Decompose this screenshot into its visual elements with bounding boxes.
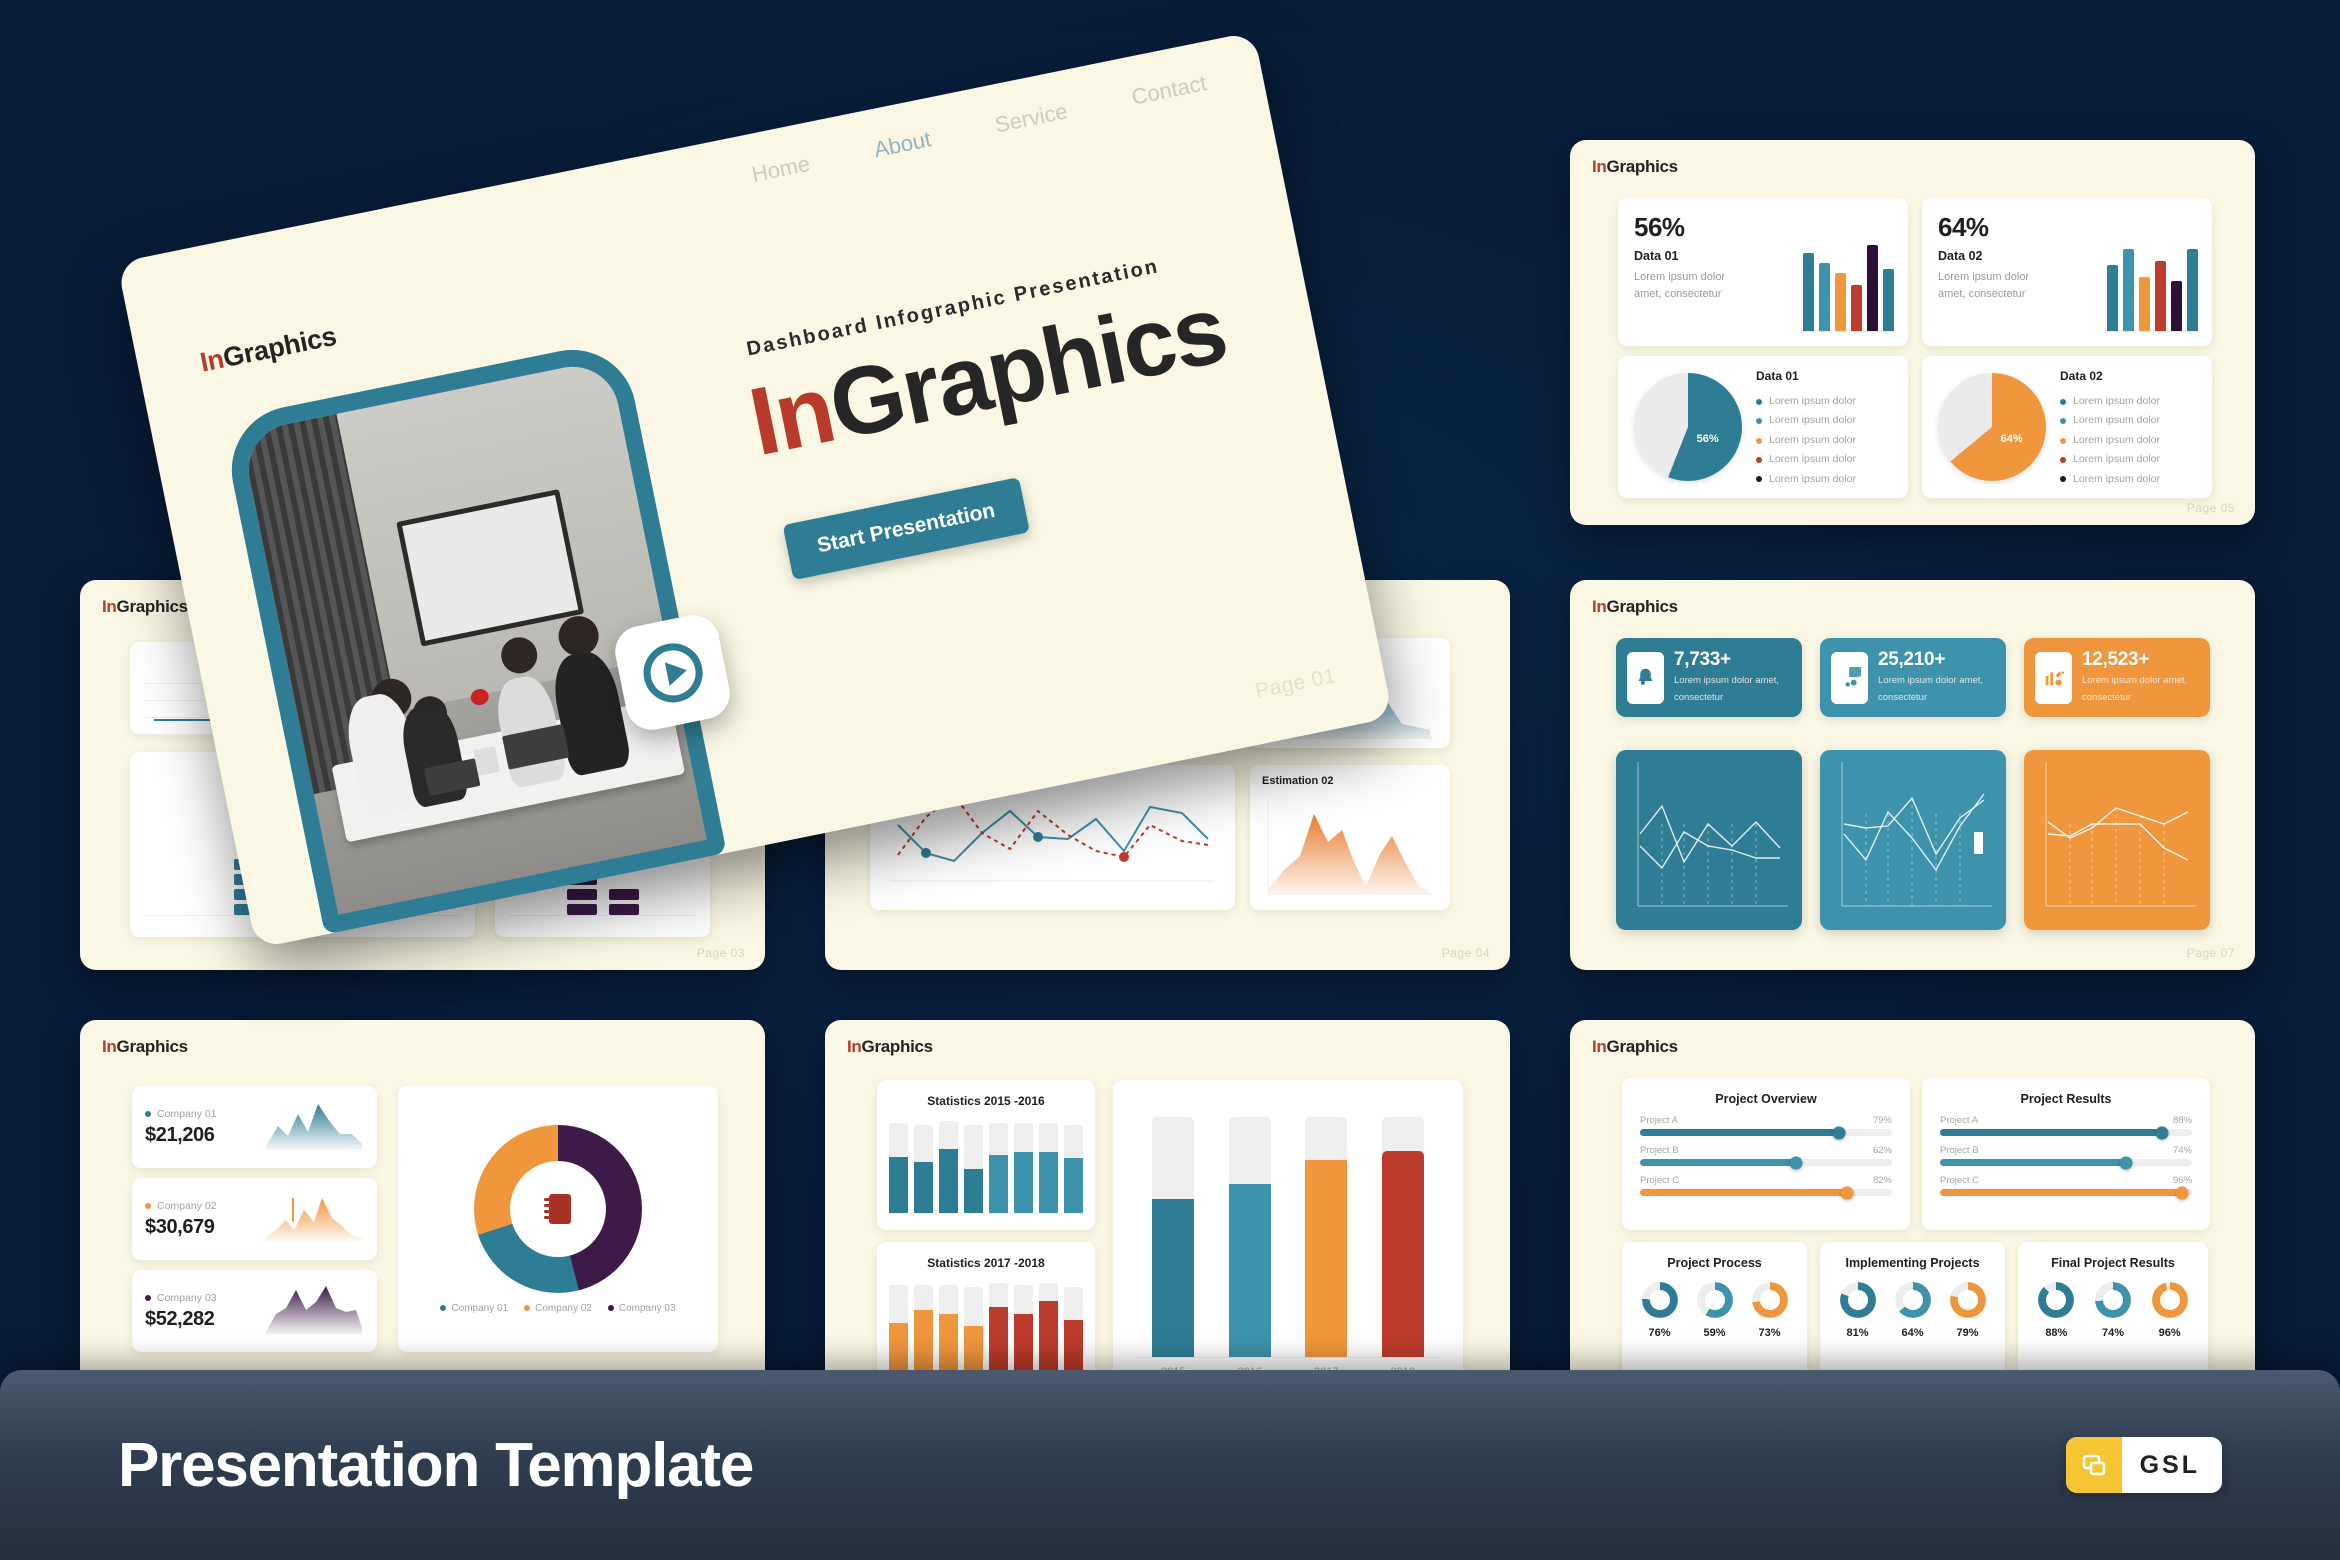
logo-graphics: Graphics bbox=[117, 1037, 188, 1056]
start-presentation-button[interactable]: Start Presentation bbox=[783, 477, 1030, 580]
company-card-2[interactable]: Company 02 $30,679 bbox=[132, 1178, 377, 1260]
banner-title: Presentation Template bbox=[118, 1430, 753, 1501]
slide-logo: InGraphics bbox=[847, 1037, 933, 1057]
page-number: Page 04 bbox=[1442, 946, 1490, 960]
slider-label: Project B bbox=[1940, 1145, 1979, 1156]
donut-item: 96% bbox=[2152, 1282, 2188, 1339]
company-sparkline bbox=[264, 1192, 364, 1246]
project-results-card[interactable]: Project Results Project A88% Project B74… bbox=[1922, 1078, 2210, 1230]
logo-graphics: Graphics bbox=[862, 1037, 933, 1056]
play-icon bbox=[636, 636, 709, 709]
nav-item-home[interactable]: Home bbox=[750, 151, 813, 188]
donut-group: 88% 74% 96% bbox=[2028, 1282, 2198, 1339]
legend-row: Lorem ipsum dolor bbox=[2060, 411, 2160, 430]
donut-item: 88% bbox=[2038, 1282, 2074, 1339]
donut-group: 76% 59% 73% bbox=[1632, 1282, 1797, 1339]
kpi-text: Lorem ipsum dolor amet, consectetur bbox=[1878, 673, 1995, 706]
donut-item: 64% bbox=[1895, 1282, 1931, 1339]
line-chart-svg bbox=[2024, 750, 2210, 930]
donut-legend: Company 01 Company 02 Company 03 bbox=[412, 1303, 704, 1314]
slides-icon bbox=[2066, 1437, 2122, 1493]
hero-logo: InGraphics bbox=[198, 321, 339, 379]
stats-big-chart-card[interactable]: 2015 2016 2017 2018 bbox=[1113, 1080, 1463, 1392]
page-number: Page 03 bbox=[697, 946, 745, 960]
stats-bars-b bbox=[889, 1280, 1083, 1376]
slide-logo: InGraphics bbox=[1592, 1037, 1678, 1057]
pie-value: 64% bbox=[2001, 433, 2023, 445]
estimation-02-title: Estimation 02 bbox=[1262, 775, 1438, 787]
legend-row: Company 01 bbox=[440, 1303, 508, 1314]
slider-row: Project C96% bbox=[1940, 1175, 2192, 1196]
logo-graphics: Graphics bbox=[1607, 597, 1678, 616]
slider-label: Project C bbox=[1640, 1175, 1679, 1186]
line-chart-svg bbox=[1616, 750, 1802, 930]
slider-label: Project A bbox=[1940, 1115, 1978, 1126]
project-results-title: Project Results bbox=[1940, 1092, 2192, 1106]
slide-kpi[interactable]: InGraphics 7,733+ Lorem ipsum dolor amet… bbox=[1570, 580, 2255, 970]
stats-title-b: Statistics 2017 -2018 bbox=[889, 1256, 1083, 1270]
bell-icon bbox=[1627, 652, 1664, 704]
company-donut-card[interactable]: Company 01 Company 02 Company 03 bbox=[398, 1086, 718, 1352]
project-process-card[interactable]: Project Process 76% 59% 73% bbox=[1622, 1242, 1807, 1390]
kpi-value: 12,523+ bbox=[2082, 649, 2199, 671]
kpi-card-3[interactable]: 12,523+ Lorem ipsum dolor amet, consecte… bbox=[2024, 638, 2210, 717]
donut-item: 81% bbox=[1840, 1282, 1876, 1339]
kpi-value: 7,733+ bbox=[1674, 649, 1791, 671]
page-background: InGraphics Target Page 03 InGraphics bbox=[0, 0, 2340, 1560]
slider-label: Project B bbox=[1640, 1145, 1679, 1156]
slider-row: Project A88% bbox=[1940, 1115, 2192, 1136]
page-number: Page 05 bbox=[2187, 501, 2235, 515]
data-text: Lorem ipsum dolor amet, consectetur bbox=[1634, 269, 1744, 302]
company-name: Company 03 bbox=[145, 1292, 217, 1304]
slider-label: Project C bbox=[1940, 1175, 1979, 1186]
logo-in: In bbox=[1592, 597, 1607, 616]
donut-item: 74% bbox=[2095, 1282, 2131, 1339]
slider-value: 79% bbox=[1873, 1115, 1892, 1126]
slider-track[interactable] bbox=[1940, 1189, 2192, 1196]
stats-title-a: Statistics 2015 -2016 bbox=[889, 1094, 1083, 1108]
page-number: Page 01 bbox=[1253, 664, 1338, 704]
kpi-graph-1[interactable] bbox=[1616, 750, 1802, 930]
bottom-banner: Presentation Template GSL bbox=[0, 1370, 2340, 1560]
logo-in: In bbox=[847, 1037, 862, 1056]
legend-row: Lorem ipsum dolor bbox=[2060, 450, 2160, 469]
company-card-1[interactable]: Company 01 $21,206 bbox=[132, 1086, 377, 1168]
slide-data[interactable]: InGraphics 56% Data 01 Lorem ipsum dolor… bbox=[1570, 140, 2255, 525]
slider-value: 82% bbox=[1873, 1175, 1892, 1186]
kpi-value: 25,210+ bbox=[1878, 649, 1995, 671]
pie-card-02[interactable]: 64% Data 02 Lorem ipsum dolor Lorem ipsu… bbox=[1922, 356, 2212, 498]
legend-row: Lorem ipsum dolor bbox=[1756, 392, 1856, 411]
data-percent: 56% bbox=[1634, 212, 1892, 243]
stack-col bbox=[609, 889, 639, 915]
kpi-text: Lorem ipsum dolor amet, consectetur bbox=[1674, 673, 1791, 706]
slider-row: Project A79% bbox=[1640, 1115, 1892, 1136]
legend-row: Company 02 bbox=[524, 1303, 592, 1314]
line-chart-svg bbox=[1820, 750, 2006, 930]
nav-item-about[interactable]: About bbox=[872, 126, 934, 163]
company-amount: $52,282 bbox=[145, 1308, 217, 1331]
donut-item: 79% bbox=[1950, 1282, 1986, 1339]
logo-graphics: Graphics bbox=[220, 321, 338, 373]
slider-track[interactable] bbox=[1640, 1189, 1892, 1196]
stats-panel-a[interactable]: Statistics 2015 -2016 bbox=[877, 1080, 1095, 1230]
legend-row: Lorem ipsum dolor bbox=[2060, 392, 2160, 411]
logo-in: In bbox=[102, 1037, 117, 1056]
logo-graphics: Graphics bbox=[1607, 1037, 1678, 1056]
data-percent: 64% bbox=[1938, 212, 2196, 243]
legend-row: Lorem ipsum dolor bbox=[1756, 431, 1856, 450]
slider-label: Project A bbox=[1640, 1115, 1678, 1126]
company-sparkline bbox=[264, 1100, 364, 1154]
company-sparkline bbox=[264, 1284, 364, 1338]
company-name: Company 02 bbox=[145, 1200, 217, 1212]
donut-chart bbox=[474, 1125, 642, 1293]
slide-logo: InGraphics bbox=[102, 597, 188, 617]
slide-logo: InGraphics bbox=[1592, 157, 1678, 177]
pie-chart-01: 56% bbox=[1634, 373, 1742, 481]
slider-row: Project B74% bbox=[1940, 1145, 2192, 1166]
slider-track[interactable] bbox=[1640, 1159, 1892, 1166]
data-text: Lorem ipsum dolor amet, consectetur bbox=[1938, 269, 2048, 302]
company-amount: $21,206 bbox=[145, 1124, 217, 1147]
kpi-graph-3[interactable] bbox=[2024, 750, 2210, 930]
bar-growth-icon bbox=[2035, 652, 2072, 704]
logo-in: In bbox=[1592, 157, 1607, 176]
donut-item: 73% bbox=[1752, 1282, 1788, 1339]
pie-legend-02: Data 02 Lorem ipsum dolor Lorem ipsum do… bbox=[2060, 365, 2160, 489]
logo-in: In bbox=[1592, 1037, 1607, 1056]
legend-row: Lorem ipsum dolor bbox=[1756, 450, 1856, 469]
donut-group: 81% 64% 79% bbox=[1830, 1282, 1995, 1339]
nav-item-service[interactable]: Service bbox=[993, 98, 1070, 138]
pie-value: 56% bbox=[1697, 433, 1719, 445]
slide-projects[interactable]: InGraphics Project Overview Project A79%… bbox=[1570, 1020, 2255, 1410]
slider-track[interactable] bbox=[1940, 1129, 2192, 1136]
data-card-01[interactable]: 56% Data 01 Lorem ipsum dolor amet, cons… bbox=[1618, 198, 1908, 346]
estimation-02-area bbox=[1262, 800, 1437, 900]
page-number: Page 07 bbox=[2187, 946, 2235, 960]
legend-row: Company 03 bbox=[608, 1303, 676, 1314]
project-overview-title: Project Overview bbox=[1640, 1092, 1892, 1106]
legend-row: Lorem ipsum dolor bbox=[1756, 411, 1856, 430]
gsl-label: GSL bbox=[2122, 1451, 2222, 1480]
slider-row: Project C82% bbox=[1640, 1175, 1892, 1196]
logo-graphics: Graphics bbox=[1607, 157, 1678, 176]
slider-track[interactable] bbox=[1640, 1129, 1892, 1136]
legend-row: Lorem ipsum dolor bbox=[1756, 470, 1856, 489]
pie-title: Data 02 bbox=[2060, 365, 2160, 387]
pie-legend-01: Data 01 Lorem ipsum dolor Lorem ipsum do… bbox=[1756, 365, 1856, 489]
slide-logo: InGraphics bbox=[1592, 597, 1678, 617]
data-card-02[interactable]: 64% Data 02 Lorem ipsum dolor amet, cons… bbox=[1922, 198, 2212, 346]
logo-in: In bbox=[102, 597, 117, 616]
slide-logo: InGraphics bbox=[102, 1037, 188, 1057]
pie-gear-icon bbox=[1831, 652, 1868, 704]
company-name: Company 01 bbox=[145, 1108, 217, 1120]
donut-item: 59% bbox=[1697, 1282, 1733, 1339]
pie-title: Data 01 bbox=[1756, 365, 1856, 387]
stats-big-bars bbox=[1135, 1100, 1441, 1358]
donut-panel-title: Implementing Projects bbox=[1830, 1256, 1995, 1270]
slider-value: 74% bbox=[2173, 1145, 2192, 1156]
project-overview-card[interactable]: Project Overview Project A79% Project B6… bbox=[1622, 1078, 1910, 1230]
company-card-3[interactable]: Company 03 $52,282 bbox=[132, 1270, 377, 1352]
notebook-icon bbox=[474, 1125, 642, 1293]
gsl-badge[interactable]: GSL bbox=[2066, 1437, 2222, 1493]
donut-item: 76% bbox=[1642, 1282, 1678, 1339]
slide-statistics[interactable]: InGraphics Statistics 2015 -2016 Statist… bbox=[825, 1020, 1510, 1410]
kpi-card-1[interactable]: 7,733+ Lorem ipsum dolor amet, consectet… bbox=[1616, 638, 1802, 717]
legend-row: Lorem ipsum dolor bbox=[2060, 431, 2160, 450]
hero-nav[interactable]: Home About Service Contact bbox=[750, 70, 1209, 188]
kpi-graph-2[interactable] bbox=[1820, 750, 2006, 930]
data-minibars bbox=[2107, 242, 2198, 332]
donut-panel-title: Project Process bbox=[1632, 1256, 1797, 1270]
data-minibars bbox=[1803, 242, 1894, 332]
slider-value: 62% bbox=[1873, 1145, 1892, 1156]
final-project-results-card[interactable]: Final Project Results 88% 74% 96% bbox=[2018, 1242, 2208, 1390]
legend-row: Lorem ipsum dolor bbox=[2060, 470, 2160, 489]
pie-card-01[interactable]: 56% Data 01 Lorem ipsum dolor Lorem ipsu… bbox=[1618, 356, 1908, 498]
nav-item-contact[interactable]: Contact bbox=[1129, 70, 1208, 111]
slider-row: Project B62% bbox=[1640, 1145, 1892, 1166]
pie-chart-02: 64% bbox=[1938, 373, 2046, 481]
slider-value: 88% bbox=[2173, 1115, 2192, 1126]
play-button[interactable] bbox=[611, 611, 735, 735]
kpi-card-2[interactable]: 25,210+ Lorem ipsum dolor amet, consecte… bbox=[1820, 638, 2006, 717]
kpi-text: Lorem ipsum dolor amet, consectetur bbox=[2082, 673, 2199, 706]
donut-panel-title: Final Project Results bbox=[2028, 1256, 2198, 1270]
slider-track[interactable] bbox=[1940, 1159, 2192, 1166]
logo-graphics: Graphics bbox=[117, 597, 188, 616]
slide-companies[interactable]: InGraphics Company 01 $21,206 Company 02… bbox=[80, 1020, 765, 1410]
implementing-projects-card[interactable]: Implementing Projects 81% 64% 79% bbox=[1820, 1242, 2005, 1390]
slider-value: 96% bbox=[2173, 1175, 2192, 1186]
company-amount: $30,679 bbox=[145, 1216, 217, 1239]
stats-bars-a bbox=[889, 1118, 1083, 1214]
estimation-02-card[interactable]: Estimation 02 bbox=[1250, 765, 1450, 910]
